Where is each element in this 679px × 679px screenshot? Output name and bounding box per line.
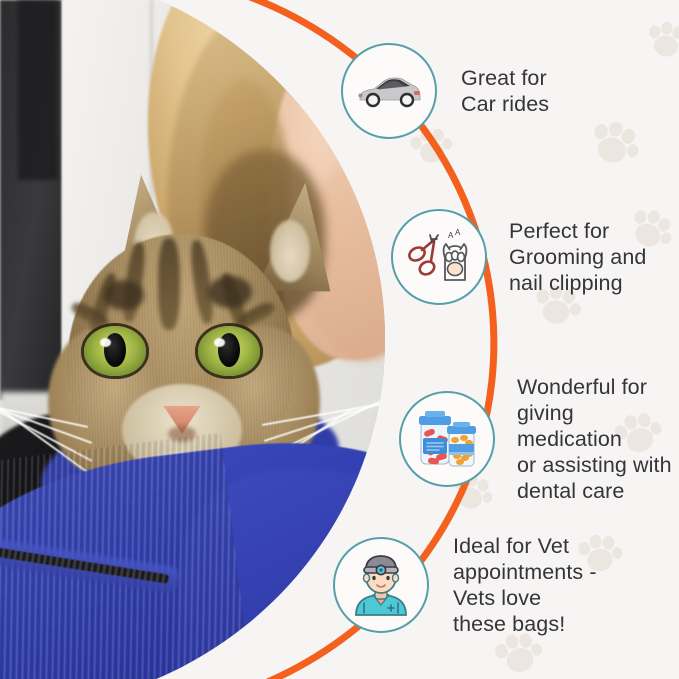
feature-icon-circle [341, 43, 437, 139]
car-icon [354, 71, 424, 111]
feature-item-medication[interactable]: Wonderful for giving medication or assis… [399, 374, 679, 504]
feature-item-car-rides[interactable]: Great for Car rides [341, 43, 549, 139]
pill-bottles-icon [413, 408, 481, 470]
feature-text: Perfect for Grooming and nail clipping [509, 218, 646, 296]
feature-text: Great for Car rides [461, 65, 549, 117]
cat-eye-right [198, 326, 260, 376]
feature-icon-circle [399, 391, 495, 487]
svg-text:A: A [448, 231, 454, 240]
veterinarian-icon [348, 553, 414, 617]
feature-text: Wonderful for giving medication or assis… [517, 374, 679, 504]
svg-text:A: A [455, 228, 461, 237]
cat-eye-left [84, 326, 146, 376]
feature-item-grooming[interactable]: A A Perfect for Grooming and nail clippi… [391, 209, 646, 305]
feature-icon-circle [333, 537, 429, 633]
nail-clippers-paw-icon: A A [407, 228, 471, 286]
feature-icon-circle: A A [391, 209, 487, 305]
feature-text: Ideal for Vet appointments - Vets love t… [453, 533, 597, 637]
product-feature-banner: Great for Car rides [0, 0, 679, 679]
feature-item-vet-appointments[interactable]: Ideal for Vet appointments - Vets love t… [333, 533, 597, 637]
